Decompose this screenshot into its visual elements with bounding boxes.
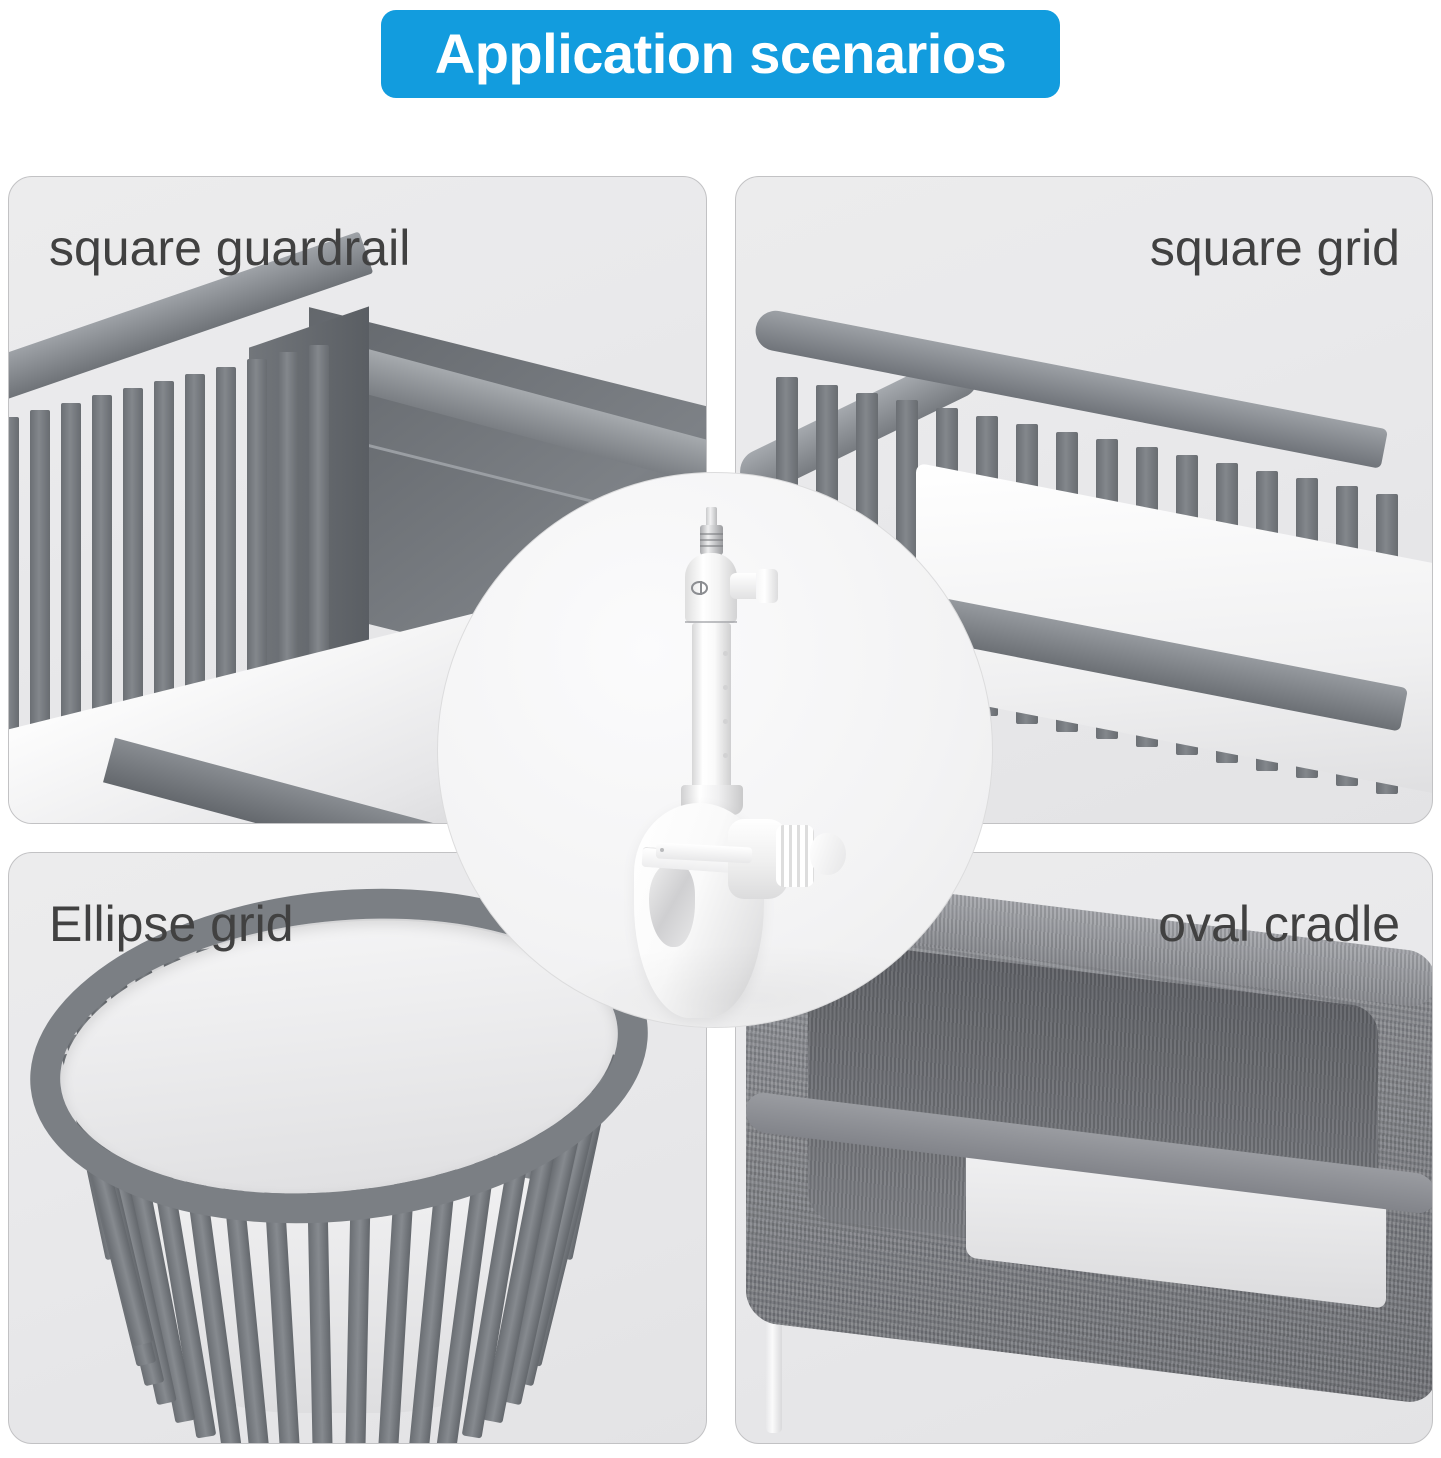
header-badge-label: Application scenarios bbox=[435, 26, 1006, 82]
shaft-hole bbox=[723, 753, 728, 758]
locking-knob-head bbox=[756, 569, 778, 603]
thumbscrew-tip bbox=[810, 833, 846, 875]
crib-slat bbox=[185, 374, 205, 704]
shaft-hole bbox=[723, 685, 728, 690]
crib-slat bbox=[154, 381, 174, 711]
camera-mount-product bbox=[438, 473, 992, 1027]
ferrule-line bbox=[700, 533, 723, 535]
ferrule-line bbox=[700, 539, 723, 541]
crib-slat bbox=[309, 345, 329, 675]
shaft-hole bbox=[723, 719, 728, 724]
infographic-page: Application scenarios square guardrail s… bbox=[0, 0, 1441, 1458]
camera-lens bbox=[649, 863, 695, 947]
surface-reflection bbox=[538, 943, 968, 1028]
crib-slat bbox=[123, 388, 143, 718]
header-badge: Application scenarios bbox=[381, 10, 1060, 98]
crib-slat bbox=[92, 395, 112, 725]
panel-label-square-guardrail: square guardrail bbox=[49, 221, 410, 276]
product-highlight-circle bbox=[437, 472, 993, 1028]
shaft-hole bbox=[723, 651, 728, 656]
thumbscrew-knurl bbox=[776, 825, 814, 887]
crib-slat bbox=[216, 367, 236, 697]
panel-label-ellipse-grid: Ellipse grid bbox=[49, 897, 294, 952]
crib-slat bbox=[30, 410, 50, 740]
extension-shaft bbox=[692, 623, 731, 793]
clamp-pin bbox=[660, 848, 664, 852]
ferrule-line bbox=[700, 545, 723, 547]
panel-label-square-grid: square grid bbox=[1150, 221, 1400, 276]
panel-label-oval-cradle: oval cradle bbox=[1158, 897, 1400, 952]
crib-slat bbox=[8, 417, 19, 747]
crib-slat bbox=[278, 352, 298, 682]
crib-slat bbox=[61, 403, 81, 733]
crib-slat bbox=[247, 359, 267, 689]
adjustment-dial-bar bbox=[700, 581, 702, 595]
